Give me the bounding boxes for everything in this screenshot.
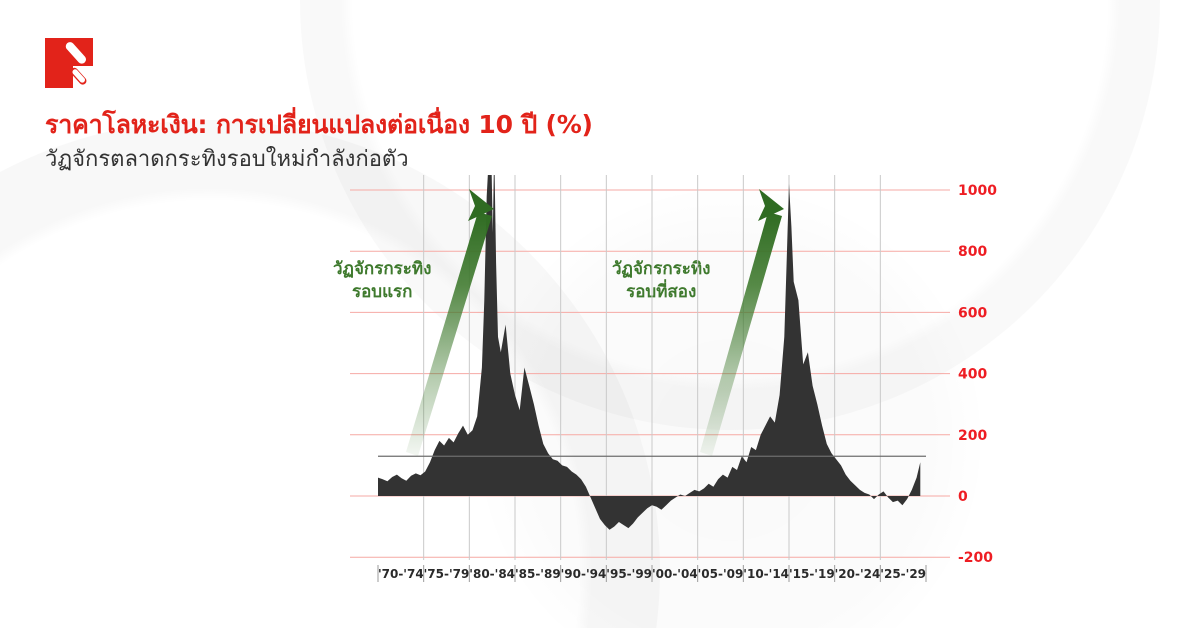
- x-tick-label: '95-'99: [606, 567, 652, 581]
- x-tick-label: '10-'14: [743, 567, 789, 581]
- x-tick-label: '70-'74: [378, 567, 424, 581]
- y-tick-label: 200: [958, 428, 987, 444]
- y-tick-label: 0: [958, 489, 968, 505]
- x-tick-label: '05-'09: [698, 567, 744, 581]
- y-tick-label: -200: [958, 550, 993, 566]
- infographic-canvas: ราคาโลหะเงิน: การเปลี่ยนแปลงต่อเนื่อง 10…: [0, 0, 1200, 628]
- y-tick-label: 800: [958, 244, 987, 260]
- y-tick-label: 600: [958, 305, 987, 321]
- y-axis-labels: 10008006004002000-200: [958, 183, 997, 566]
- x-axis-labels: '70-'74'75-'79'80-'84'85-'89'90-'94'95-'…: [378, 565, 926, 582]
- x-tick-label: '20-'24: [835, 567, 881, 581]
- y-tick-label: 400: [958, 367, 987, 383]
- data-series-area: [378, 147, 920, 530]
- x-tick-label: '85-'89: [515, 567, 561, 581]
- x-tick-label: '80-'84: [469, 567, 515, 581]
- x-tick-label: '25-'29: [880, 567, 926, 581]
- x-tick-label: '75-'79: [424, 567, 470, 581]
- x-tick-label: '00-'04: [652, 567, 698, 581]
- x-tick-label: '15-'19: [789, 567, 835, 581]
- arrow-second-bull-cycle: [700, 189, 784, 456]
- y-tick-label: 1000: [958, 183, 997, 199]
- silver-rolling-change-chart: 10008006004002000-200 '70-'74'75-'79'80-…: [0, 0, 1200, 628]
- x-tick-label: '90-'94: [561, 567, 607, 581]
